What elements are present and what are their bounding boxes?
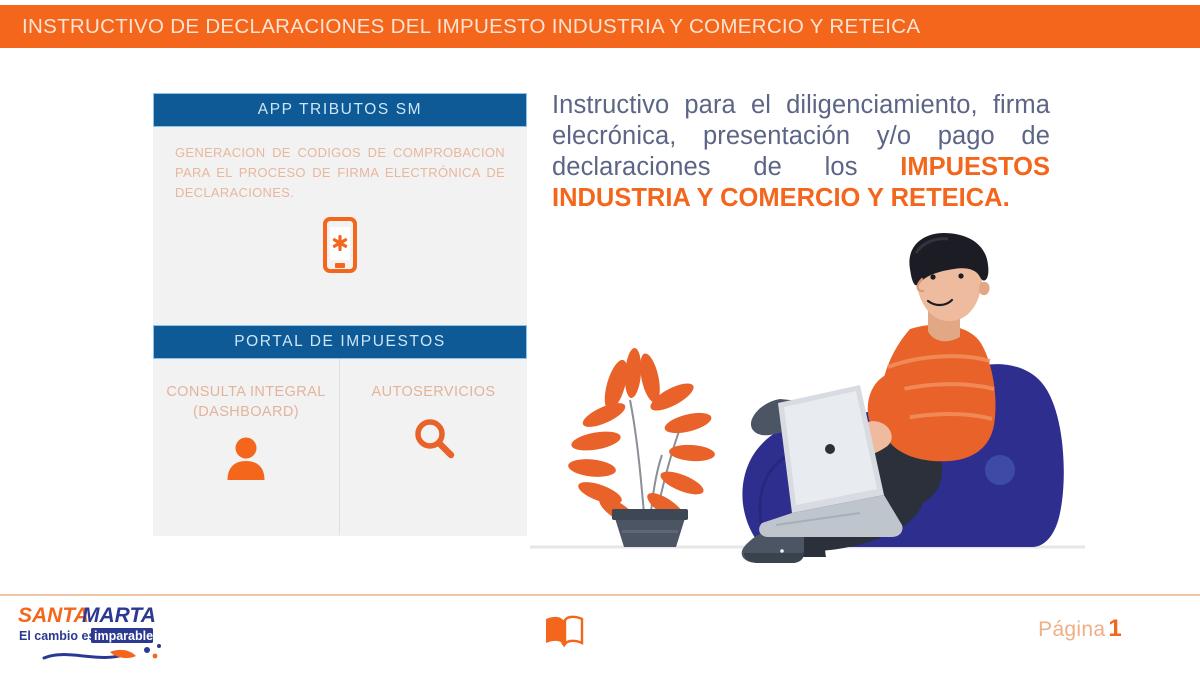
logo-tagline-highlight: imparable [94, 629, 153, 643]
info-panel: APP TRIBUTOS SM GENERACION DE CODIGOS DE… [153, 93, 527, 536]
portal-cell-label: AUTOSERVICIOS [372, 383, 496, 403]
page-header-bar: INSTRUCTIVO DE DECLARACIONES DEL IMPUEST… [0, 5, 1200, 48]
mobile-phone-asterisk-icon [323, 217, 357, 278]
user-person-icon [222, 434, 270, 487]
slide-page: INSTRUCTIVO DE DECLARACIONES DEL IMPUEST… [0, 0, 1200, 675]
logo-tagline-prefix: El cambio es [19, 629, 95, 643]
portal-cell-label: CONSULTA INTEGRAL (DASHBOARD) [153, 383, 339, 422]
headline-text: Instructivo para el diligenciamiento, fi… [552, 90, 1050, 214]
potted-plant [567, 348, 715, 547]
portal-section-cells: CONSULTA INTEGRAL (DASHBOARD) AUTOSERVIC… [153, 359, 527, 535]
footer-divider [0, 594, 1200, 596]
portal-section-title: PORTAL DE IMPUESTOS [234, 333, 446, 351]
app-section-description: GENERACION DE CODIGOS DE COMPROBACION PA… [175, 143, 505, 203]
page-label-text: Página [1038, 618, 1105, 641]
page-title: INSTRUCTIVO DE DECLARACIONES DEL IMPUEST… [22, 15, 920, 39]
magnifier-search-icon [410, 415, 458, 468]
santa-marta-logo: SANTA MARTA El cambio es imparable [14, 600, 179, 666]
portal-cell-autoservicios[interactable]: AUTOSERVICIOS [340, 359, 527, 535]
app-section-title: APP TRIBUTOS SM [258, 101, 422, 119]
app-section-icon-wrap [175, 217, 505, 278]
logo-word-one: SANTA [18, 604, 89, 627]
portal-cell-consulta-integral[interactable]: CONSULTA INTEGRAL (DASHBOARD) [153, 359, 340, 535]
app-section-body: GENERACION DE CODIGOS DE COMPROBACION PA… [153, 127, 527, 325]
logo-word-two: MARTA [82, 604, 156, 627]
man-sitting-beanbag-with-laptop-illustration [530, 225, 1090, 575]
page-number-value: 1 [1108, 615, 1122, 642]
open-book-icon [543, 614, 585, 653]
app-section-header: APP TRIBUTOS SM [153, 93, 527, 127]
headline-period: . [1003, 184, 1010, 212]
portal-section-header: PORTAL DE IMPUESTOS [153, 325, 527, 359]
page-number-label: Página1 [1038, 615, 1122, 643]
